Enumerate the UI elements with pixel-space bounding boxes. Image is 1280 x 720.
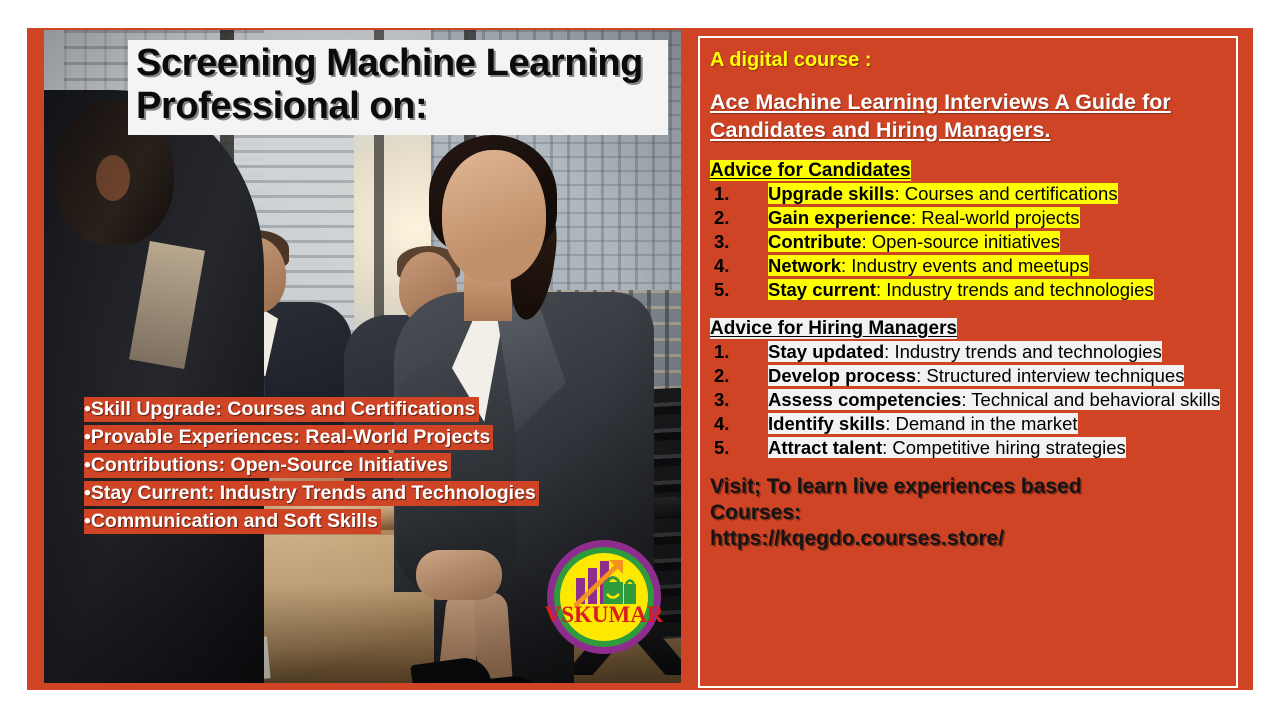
bullet-icon: •	[84, 426, 91, 448]
photo-bullet-text: Contributions: Open-Source Initiatives	[91, 454, 449, 476]
manager-item-text: Develop process: Structured interview te…	[768, 365, 1184, 386]
spacer	[710, 461, 1228, 474]
course-info-panel: A digital course : Ace Machine Learning …	[698, 36, 1238, 688]
candidate-item-detail: : Real-world projects	[911, 207, 1080, 228]
managers-heading: Advice for Hiring Managers	[710, 318, 957, 339]
bullet-icon: •	[84, 482, 91, 504]
list-number: 2.	[714, 364, 729, 388]
candidate-item-label: Network	[768, 255, 841, 276]
spacer	[710, 144, 1228, 160]
managers-heading-row: Advice for Hiring Managers	[710, 318, 1228, 340]
candidates-list: 1. Upgrade skills: Courses and certifica…	[710, 182, 1228, 302]
course-store-url[interactable]: https://kqegdo.courses.store/	[710, 526, 1228, 552]
candidate-item-label: Gain experience	[768, 207, 911, 228]
list-item: 2. Develop process: Structured interview…	[710, 364, 1228, 388]
list-item: 2. Gain experience: Real-world projects	[710, 206, 1228, 230]
manager-item-detail: : Competitive hiring strategies	[882, 437, 1126, 458]
list-item: •Provable Experiences: Real-World Projec…	[84, 424, 664, 452]
list-item: 3. Assess competencies: Technical and be…	[710, 388, 1228, 412]
list-item: 5. Attract talent: Competitive hiring st…	[710, 436, 1228, 460]
candidate-item-text: Contribute: Open-source initiatives	[768, 231, 1060, 252]
candidate-item-label: Contribute	[768, 231, 862, 252]
manager-item-text: Identify skills: Demand in the market	[768, 413, 1078, 434]
list-item: 4. Network: Industry events and meetups	[710, 254, 1228, 278]
list-number: 4.	[714, 412, 729, 436]
list-item: •Communication and Soft Skills	[84, 508, 664, 536]
page-title: Screening Machine Learning Professional …	[128, 40, 668, 135]
spacer	[710, 73, 1228, 89]
list-item: •Contributions: Open-Source Initiatives	[84, 452, 664, 480]
manager-item-text: Stay updated: Industry trends and techno…	[768, 341, 1162, 362]
list-number: 1.	[714, 182, 729, 206]
candidate-item-detail: : Open-source initiatives	[862, 231, 1060, 252]
candidate-item-label: Upgrade skills	[768, 183, 894, 204]
manager-item-label: Attract talent	[768, 437, 882, 458]
manager-item-label: Identify skills	[768, 413, 885, 434]
list-item: 3. Contribute: Open-source initiatives	[710, 230, 1228, 254]
visit-callout: Visit; To learn live experiences based C…	[710, 474, 1228, 552]
manager-item-detail: : Industry trends and technologies	[884, 341, 1162, 362]
list-number: 2.	[714, 206, 729, 230]
candidate-item-detail: : Courses and certifications	[894, 183, 1117, 204]
candidate-item-text: Gain experience: Real-world projects	[768, 207, 1080, 228]
visit-line-1: Visit; To learn live experiences based	[710, 475, 1082, 498]
bullet-icon: •	[84, 454, 91, 476]
photo-bullet-text: Stay Current: Industry Trends and Techno…	[91, 482, 536, 504]
candidate-item-detail: : Industry trends and technologies	[876, 279, 1154, 300]
managers-list: 1. Stay updated: Industry trends and tec…	[710, 340, 1228, 460]
manager-item-label: Develop process	[768, 365, 916, 386]
vskumar-logo-text: VSKUMAR	[545, 602, 663, 627]
list-item: 5. Stay current: Industry trends and tec…	[710, 278, 1228, 302]
course-title: Ace Machine Learning Interviews A Guide …	[710, 89, 1228, 144]
candidate-item-label: Stay current	[768, 279, 876, 300]
spacer	[710, 302, 1228, 318]
list-item: •Stay Current: Industry Trends and Techn…	[84, 480, 664, 508]
manager-item-text: Assess competencies: Technical and behav…	[768, 389, 1220, 410]
headline-line-2: Professional on:	[136, 85, 662, 128]
list-number: 3.	[714, 388, 729, 412]
manager-item-detail: : Technical and behavioral skills	[961, 389, 1220, 410]
manager-item-label: Stay updated	[768, 341, 884, 362]
list-item: •Skill Upgrade: Courses and Certificatio…	[84, 396, 664, 424]
photo-bullet-text: Provable Experiences: Real-World Project…	[91, 426, 491, 448]
candidate-item-text: Stay current: Industry trends and techno…	[768, 279, 1154, 300]
bullet-icon: •	[84, 398, 91, 420]
list-number: 5.	[714, 436, 729, 460]
list-number: 5.	[714, 278, 729, 302]
list-number: 1.	[714, 340, 729, 364]
candidate-item-text: Network: Industry events and meetups	[768, 255, 1089, 276]
candidates-heading: Advice for Candidates	[710, 160, 911, 181]
photo-bullet-text: Communication and Soft Skills	[91, 510, 378, 532]
manager-item-detail: : Structured interview techniques	[916, 365, 1184, 386]
list-number: 3.	[714, 230, 729, 254]
slide-canvas: Screening Machine Learning Professional …	[0, 0, 1280, 720]
list-item: 1. Upgrade skills: Courses and certifica…	[710, 182, 1228, 206]
list-item: 1. Stay updated: Industry trends and tec…	[710, 340, 1228, 364]
headline-line-1: Screening Machine Learning	[136, 42, 643, 84]
photo-bullet-list: •Skill Upgrade: Courses and Certificatio…	[84, 396, 664, 535]
candidate-item-detail: : Industry events and meetups	[841, 255, 1089, 276]
candidates-heading-row: Advice for Candidates	[710, 160, 1228, 182]
photo-bullet-text: Skill Upgrade: Courses and Certification…	[91, 398, 476, 420]
visit-line-2: Courses:	[710, 501, 801, 524]
manager-item-text: Attract talent: Competitive hiring strat…	[768, 437, 1126, 458]
list-item: 4. Identify skills: Demand in the market	[710, 412, 1228, 436]
vskumar-logo-icon: VSKUMAR	[545, 538, 663, 656]
candidate-item-text: Upgrade skills: Courses and certificatio…	[768, 183, 1118, 204]
kicker-text: A digital course :	[710, 48, 1228, 73]
vskumar-logo: VSKUMAR	[545, 538, 663, 656]
bullet-icon: •	[84, 510, 91, 532]
manager-item-detail: : Demand in the market	[885, 413, 1077, 434]
list-number: 4.	[714, 254, 729, 278]
manager-item-label: Assess competencies	[768, 389, 961, 410]
